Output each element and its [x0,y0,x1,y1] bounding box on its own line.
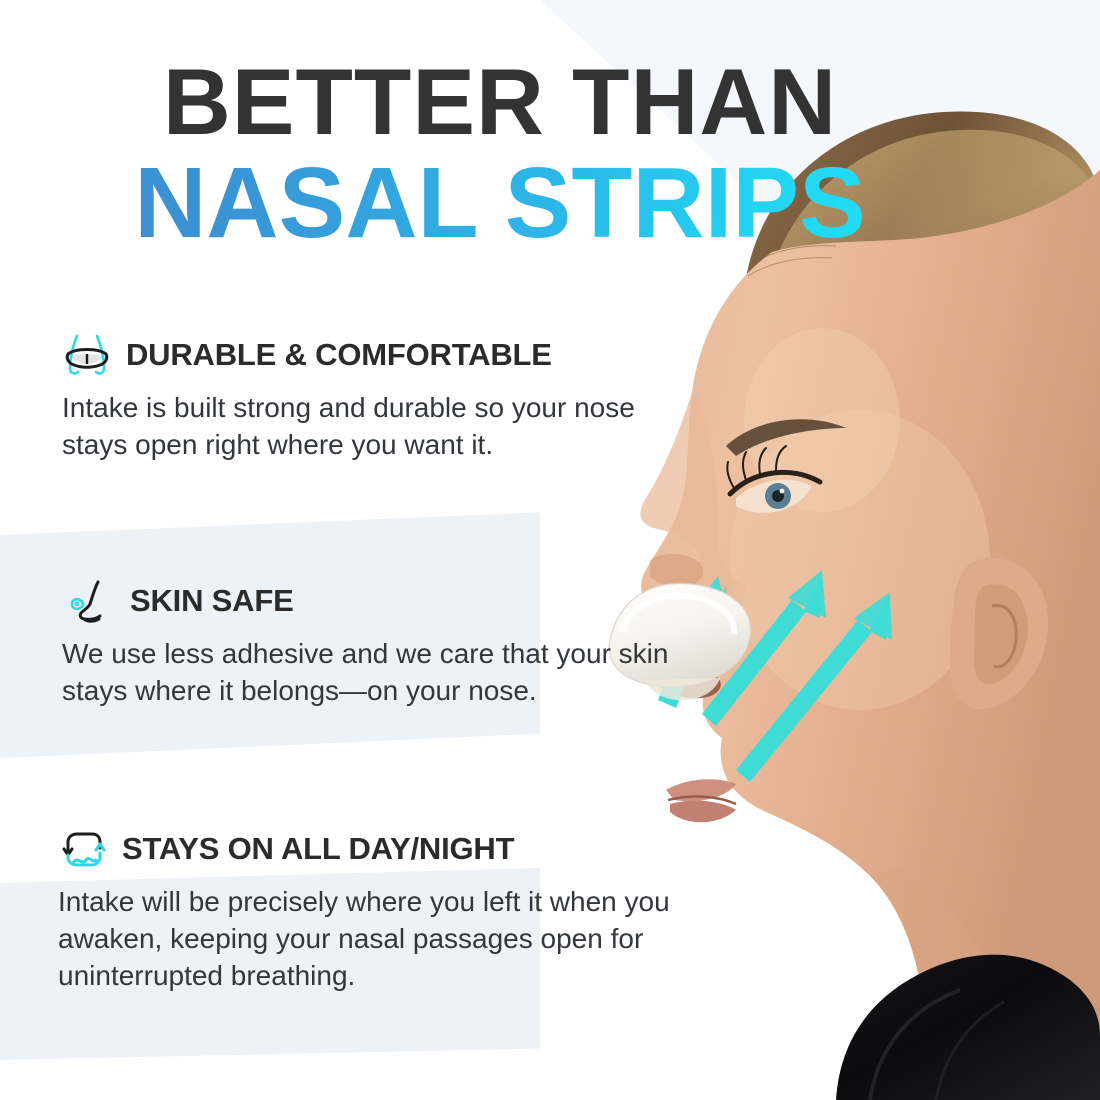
feature-title: DURABLE & COMFORTABLE [126,337,552,373]
feature-body: Intake is built strong and durable so yo… [62,390,682,464]
day-night-loop-icon [58,826,108,872]
headline-line-1: BETTER THAN [0,56,1000,148]
feature-heading-row: STAYS ON ALL DAY/NIGHT [58,826,698,872]
feature-block-durable-comfortable: DURABLE & COMFORTABLE Intake is built st… [62,332,682,464]
headline-line-2: NASAL STRIPS [0,152,1000,254]
feature-heading-row: SKIN SAFE [62,578,682,624]
page-title: BETTER THAN NASAL STRIPS [0,56,1000,254]
feature-body: We use less adhesive and we care that yo… [62,636,682,710]
feature-title: STAYS ON ALL DAY/NIGHT [122,831,514,867]
feature-block-skin-safe: SKIN SAFE We use less adhesive and we ca… [62,578,682,710]
feature-heading-row: DURABLE & COMFORTABLE [62,332,682,378]
feature-title: SKIN SAFE [130,583,294,619]
feature-block-stays-on-all-day-night: STAYS ON ALL DAY/NIGHT Intake will be pr… [58,826,698,995]
nose-dilator-front-icon [62,332,112,378]
nose-profile-skin-icon [66,578,116,624]
feature-body: Intake will be precisely where you left … [58,884,698,995]
infographic-canvas: BETTER THAN NASAL STRIPS DURABLE & COMFO… [0,0,1100,1100]
